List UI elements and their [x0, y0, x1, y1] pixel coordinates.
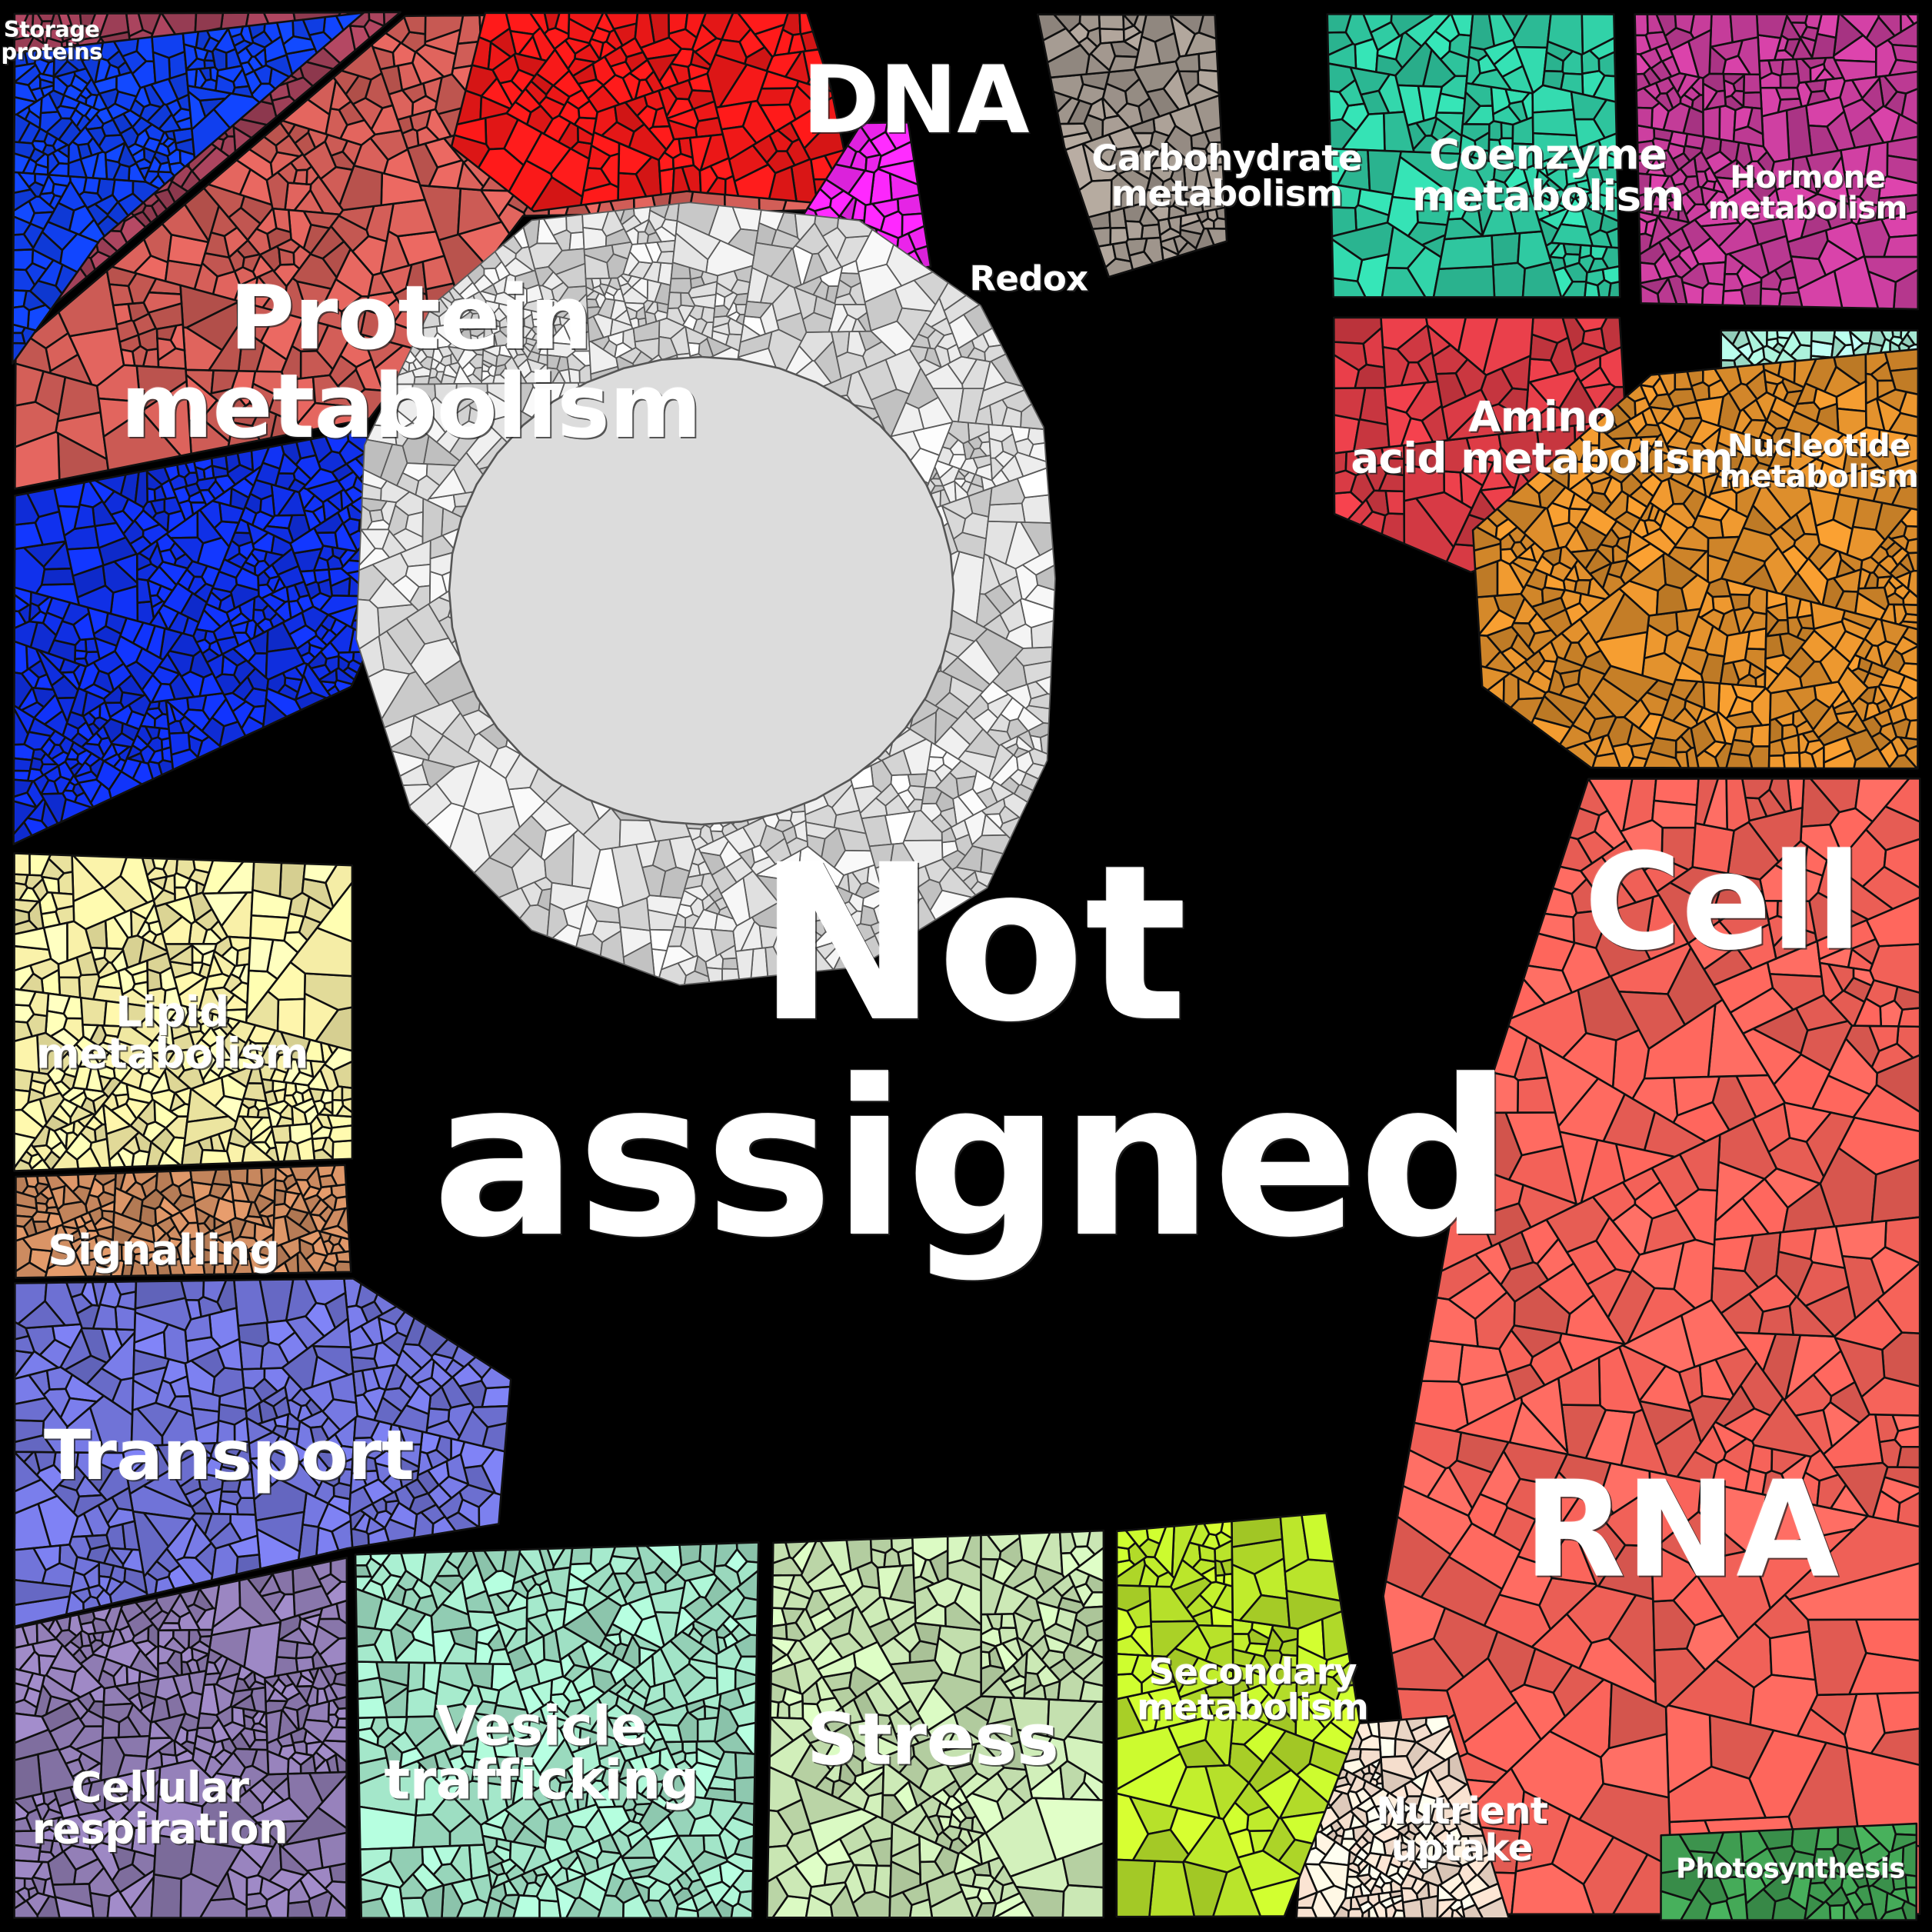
- treemap-cell: [357, 1661, 379, 1681]
- treemap-cell: [1214, 218, 1226, 229]
- treemap-cell: [1637, 108, 1652, 128]
- treemap-cell: [1751, 724, 1770, 746]
- treemap-cell: [1744, 74, 1760, 92]
- treemap-cell: [1421, 1341, 1462, 1381]
- treemap-cell: [1710, 15, 1733, 47]
- treemap-cell: [1776, 88, 1800, 99]
- treemap-cell: [612, 1546, 640, 1559]
- treemap-cell: [1493, 263, 1525, 298]
- treemap-cell: [1870, 331, 1885, 346]
- treemap-cell: [1892, 45, 1917, 62]
- treemap-cell: [1378, 1720, 1399, 1738]
- treemap-cell: [1770, 1631, 1815, 1680]
- treemap-cell: [1099, 15, 1124, 29]
- treemap-cell: [152, 1697, 170, 1723]
- treemap-cell: [1904, 605, 1918, 615]
- treemap-cell: [1439, 235, 1493, 269]
- treemap-cell: [1071, 1531, 1090, 1547]
- treemap-cell: [679, 1544, 701, 1566]
- treemap-cell: [78, 1611, 95, 1624]
- treemap-cell: [514, 1895, 540, 1917]
- treemap-cell: [898, 195, 922, 215]
- subcells-region-dna: [451, 13, 856, 212]
- treemap-cell: [1199, 52, 1218, 72]
- treemap-cell: [13, 306, 29, 328]
- treemap-cell: [254, 1730, 267, 1740]
- treemap-cell: [1724, 631, 1750, 664]
- treemap-cell: [705, 1706, 718, 1718]
- treemap-cell: [186, 69, 197, 87]
- treemap-cell: [1141, 225, 1161, 239]
- treemap-cell: [314, 569, 329, 583]
- treemap-cell: [408, 1663, 425, 1692]
- treemap-cell: [152, 34, 185, 58]
- treemap-cell: [13, 249, 33, 270]
- treemap-cell: [334, 1672, 347, 1686]
- treemap-cell: [84, 178, 100, 194]
- treemap-cell: [358, 1697, 387, 1717]
- treemap-cell: [1652, 801, 1697, 828]
- treemap-cell: [771, 1701, 779, 1718]
- treemap-cell: [1414, 1381, 1468, 1431]
- treemap-cell: [734, 1777, 754, 1804]
- treemap-cell: [31, 758, 43, 770]
- treemap-cell: [85, 638, 98, 652]
- treemap-cell: [152, 1874, 182, 1917]
- treemap-cell: [1757, 15, 1787, 38]
- treemap-cell: [237, 1498, 255, 1515]
- treemap-cell: [1434, 266, 1494, 297]
- treemap-cell: [423, 1663, 441, 1694]
- voronoi-treemap-figure: Not assignedProtein metabolismCellRNADNA…: [0, 0, 1932, 1932]
- treemap-cell: [1597, 280, 1611, 297]
- treemap-cell: [1117, 1860, 1155, 1917]
- treemap-cell: [1811, 331, 1835, 345]
- treemap-cell: [1224, 1574, 1232, 1586]
- treemap-cell: [1884, 235, 1918, 257]
- treemap-cell: [1730, 15, 1758, 42]
- treemap-cell: [1390, 1890, 1402, 1897]
- treemap-cell: [118, 1292, 136, 1310]
- treemap-cell: [1784, 752, 1800, 768]
- treemap-cell: [735, 1753, 755, 1778]
- treemap-cell: [336, 1719, 347, 1728]
- treemap-cell: [13, 290, 27, 308]
- treemap-cell: [1297, 1907, 1317, 1917]
- treemap-cell: [1504, 674, 1518, 708]
- treemap-cell: [1816, 1827, 1838, 1850]
- treemap-cell: [884, 1548, 901, 1567]
- treemap-cell: [1880, 1440, 1901, 1467]
- treemap-cell: [198, 1630, 212, 1637]
- treemap-cell: [12, 333, 25, 344]
- treemap-cell: [1386, 491, 1404, 514]
- treemap-cell: [1635, 15, 1648, 35]
- treemap-cell: [1492, 233, 1520, 265]
- treemap-cell: [1125, 222, 1143, 240]
- treemap-cell: [1836, 1221, 1886, 1258]
- treemap-cell: [277, 1640, 298, 1658]
- treemap-cell: [891, 1661, 943, 1684]
- treemap-cell: [542, 1593, 566, 1611]
- treemap-cell: [1421, 1896, 1437, 1918]
- treemap-cell: [1233, 1634, 1250, 1652]
- treemap-cell: [1769, 755, 1784, 768]
- treemap-cell: [1110, 56, 1138, 72]
- treemap-cell: [42, 568, 75, 585]
- treemap-cell: [1403, 1899, 1423, 1918]
- treemap-cell: [1760, 288, 1781, 306]
- treemap-cell: [1380, 1737, 1396, 1757]
- treemap-cell: [335, 1708, 347, 1719]
- treemap-cell: [1744, 92, 1762, 108]
- treemap-cell: [1063, 1885, 1104, 1917]
- treemap-cell: [240, 1341, 263, 1369]
- treemap-cell: [212, 1544, 238, 1580]
- treemap-cell: [1780, 74, 1799, 88]
- treemap-cell: [874, 1866, 891, 1898]
- treemap-cell: [1866, 374, 1878, 404]
- treemap-cell: [1593, 753, 1621, 768]
- treemap-cell: [1830, 1905, 1844, 1920]
- treemap-cell: [1703, 107, 1720, 139]
- treemap-cell: [1782, 59, 1798, 75]
- treemap-cell: [698, 1717, 718, 1741]
- treemap-cell: [571, 1547, 592, 1564]
